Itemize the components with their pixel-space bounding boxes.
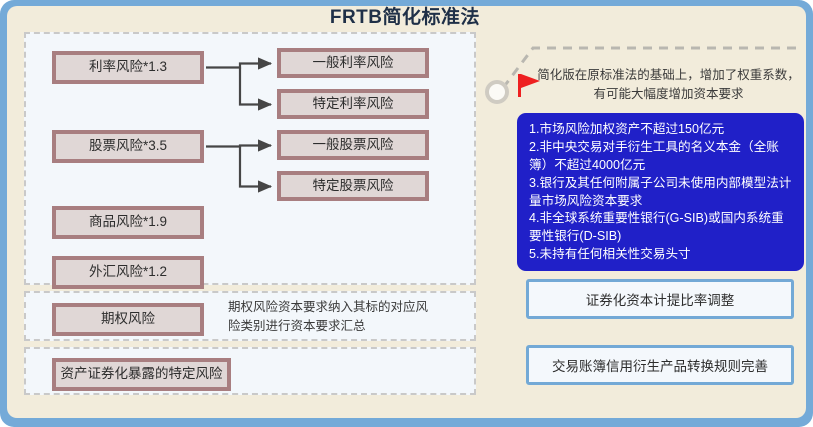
risk-box-label: 一般利率风险 — [313, 56, 394, 71]
condition-item-3: 3.银行及其任何附属子公司未使用内部模型法计量市场风险资本要求 — [529, 175, 794, 211]
box-trading-book-credit-derivative-conversion[interactable]: 交易账簿信用衍生产品转换规则完善 — [526, 345, 794, 385]
circle-pin-icon — [485, 80, 509, 104]
condition-item-2: 2.非中央交易对手衍生工具的名义本金（全账簿）不超过4000亿元 — [529, 139, 794, 175]
condition-item-4: 4.非全球系统重要性银行(G-SIB)或国内系统重要性银行(D-SIB) — [529, 210, 794, 246]
risk-box-label: 商品风险*1.9 — [89, 215, 167, 230]
risk-box-label: 一般股票风险 — [313, 138, 394, 153]
risk-box-label: 特定利率风险 — [313, 97, 394, 112]
condition-item-1: 1.市场风险加权资产不超过150亿元 — [529, 121, 794, 139]
risk-box-label: 资产证券化暴露的特定风险 — [61, 367, 223, 382]
risk-box-specific-equity-risk[interactable]: 特定股票风险 — [277, 171, 429, 201]
conditions-box: 1.市场风险加权资产不超过150亿元 2.非中央交易对手衍生工具的名义本金（全账… — [517, 113, 804, 271]
box-label: 交易账簿信用衍生产品转换规则完善 — [552, 355, 768, 375]
condition-item-5: 5.未持有任何相关性交易头寸 — [529, 246, 794, 264]
option-risk-note: 期权风险资本要求纳入其标的对应风险类别进行资本要求汇总 — [228, 298, 440, 336]
box-label: 证券化资本计提比率调整 — [586, 289, 735, 309]
risk-box-label: 特定股票风险 — [313, 179, 394, 194]
risk-box-commodity-risk[interactable]: 商品风险*1.9 — [52, 206, 204, 239]
risk-box-interest-rate-risk[interactable]: 利率风险*1.3 — [52, 51, 204, 84]
risk-box-specific-interest-rate-risk[interactable]: 特定利率风险 — [277, 89, 429, 119]
risk-box-general-interest-rate-risk[interactable]: 一般利率风险 — [277, 48, 429, 78]
box-securitization-capital-ratio-adjustment[interactable]: 证券化资本计提比率调整 — [526, 279, 794, 319]
risk-box-label: 外汇风险*1.2 — [89, 265, 167, 280]
risk-box-general-equity-risk[interactable]: 一般股票风险 — [277, 130, 429, 160]
risk-box-label: 期权风险 — [101, 312, 155, 327]
page-title: FRTB简化标准法 — [0, 2, 480, 29]
risk-box-label: 利率风险*1.3 — [89, 60, 167, 75]
risk-box-fx-risk[interactable]: 外汇风险*1.2 — [52, 256, 204, 289]
risk-box-label: 股票风险*3.5 — [89, 139, 167, 154]
slide-frame: FRTB简化标准法 利率风险*1.3 股票风险*3.5 商品风险*1.9 外汇风… — [0, 0, 813, 427]
callout-description: 简化版在原标准法的基础上，增加了权重系数，有可能大幅度增加资本要求 — [536, 66, 801, 105]
risk-box-option-risk[interactable]: 期权风险 — [52, 303, 204, 336]
risk-box-equity-risk[interactable]: 股票风险*3.5 — [52, 130, 204, 163]
risk-box-securitization-specific-risk[interactable]: 资产证券化暴露的特定风险 — [52, 358, 231, 391]
